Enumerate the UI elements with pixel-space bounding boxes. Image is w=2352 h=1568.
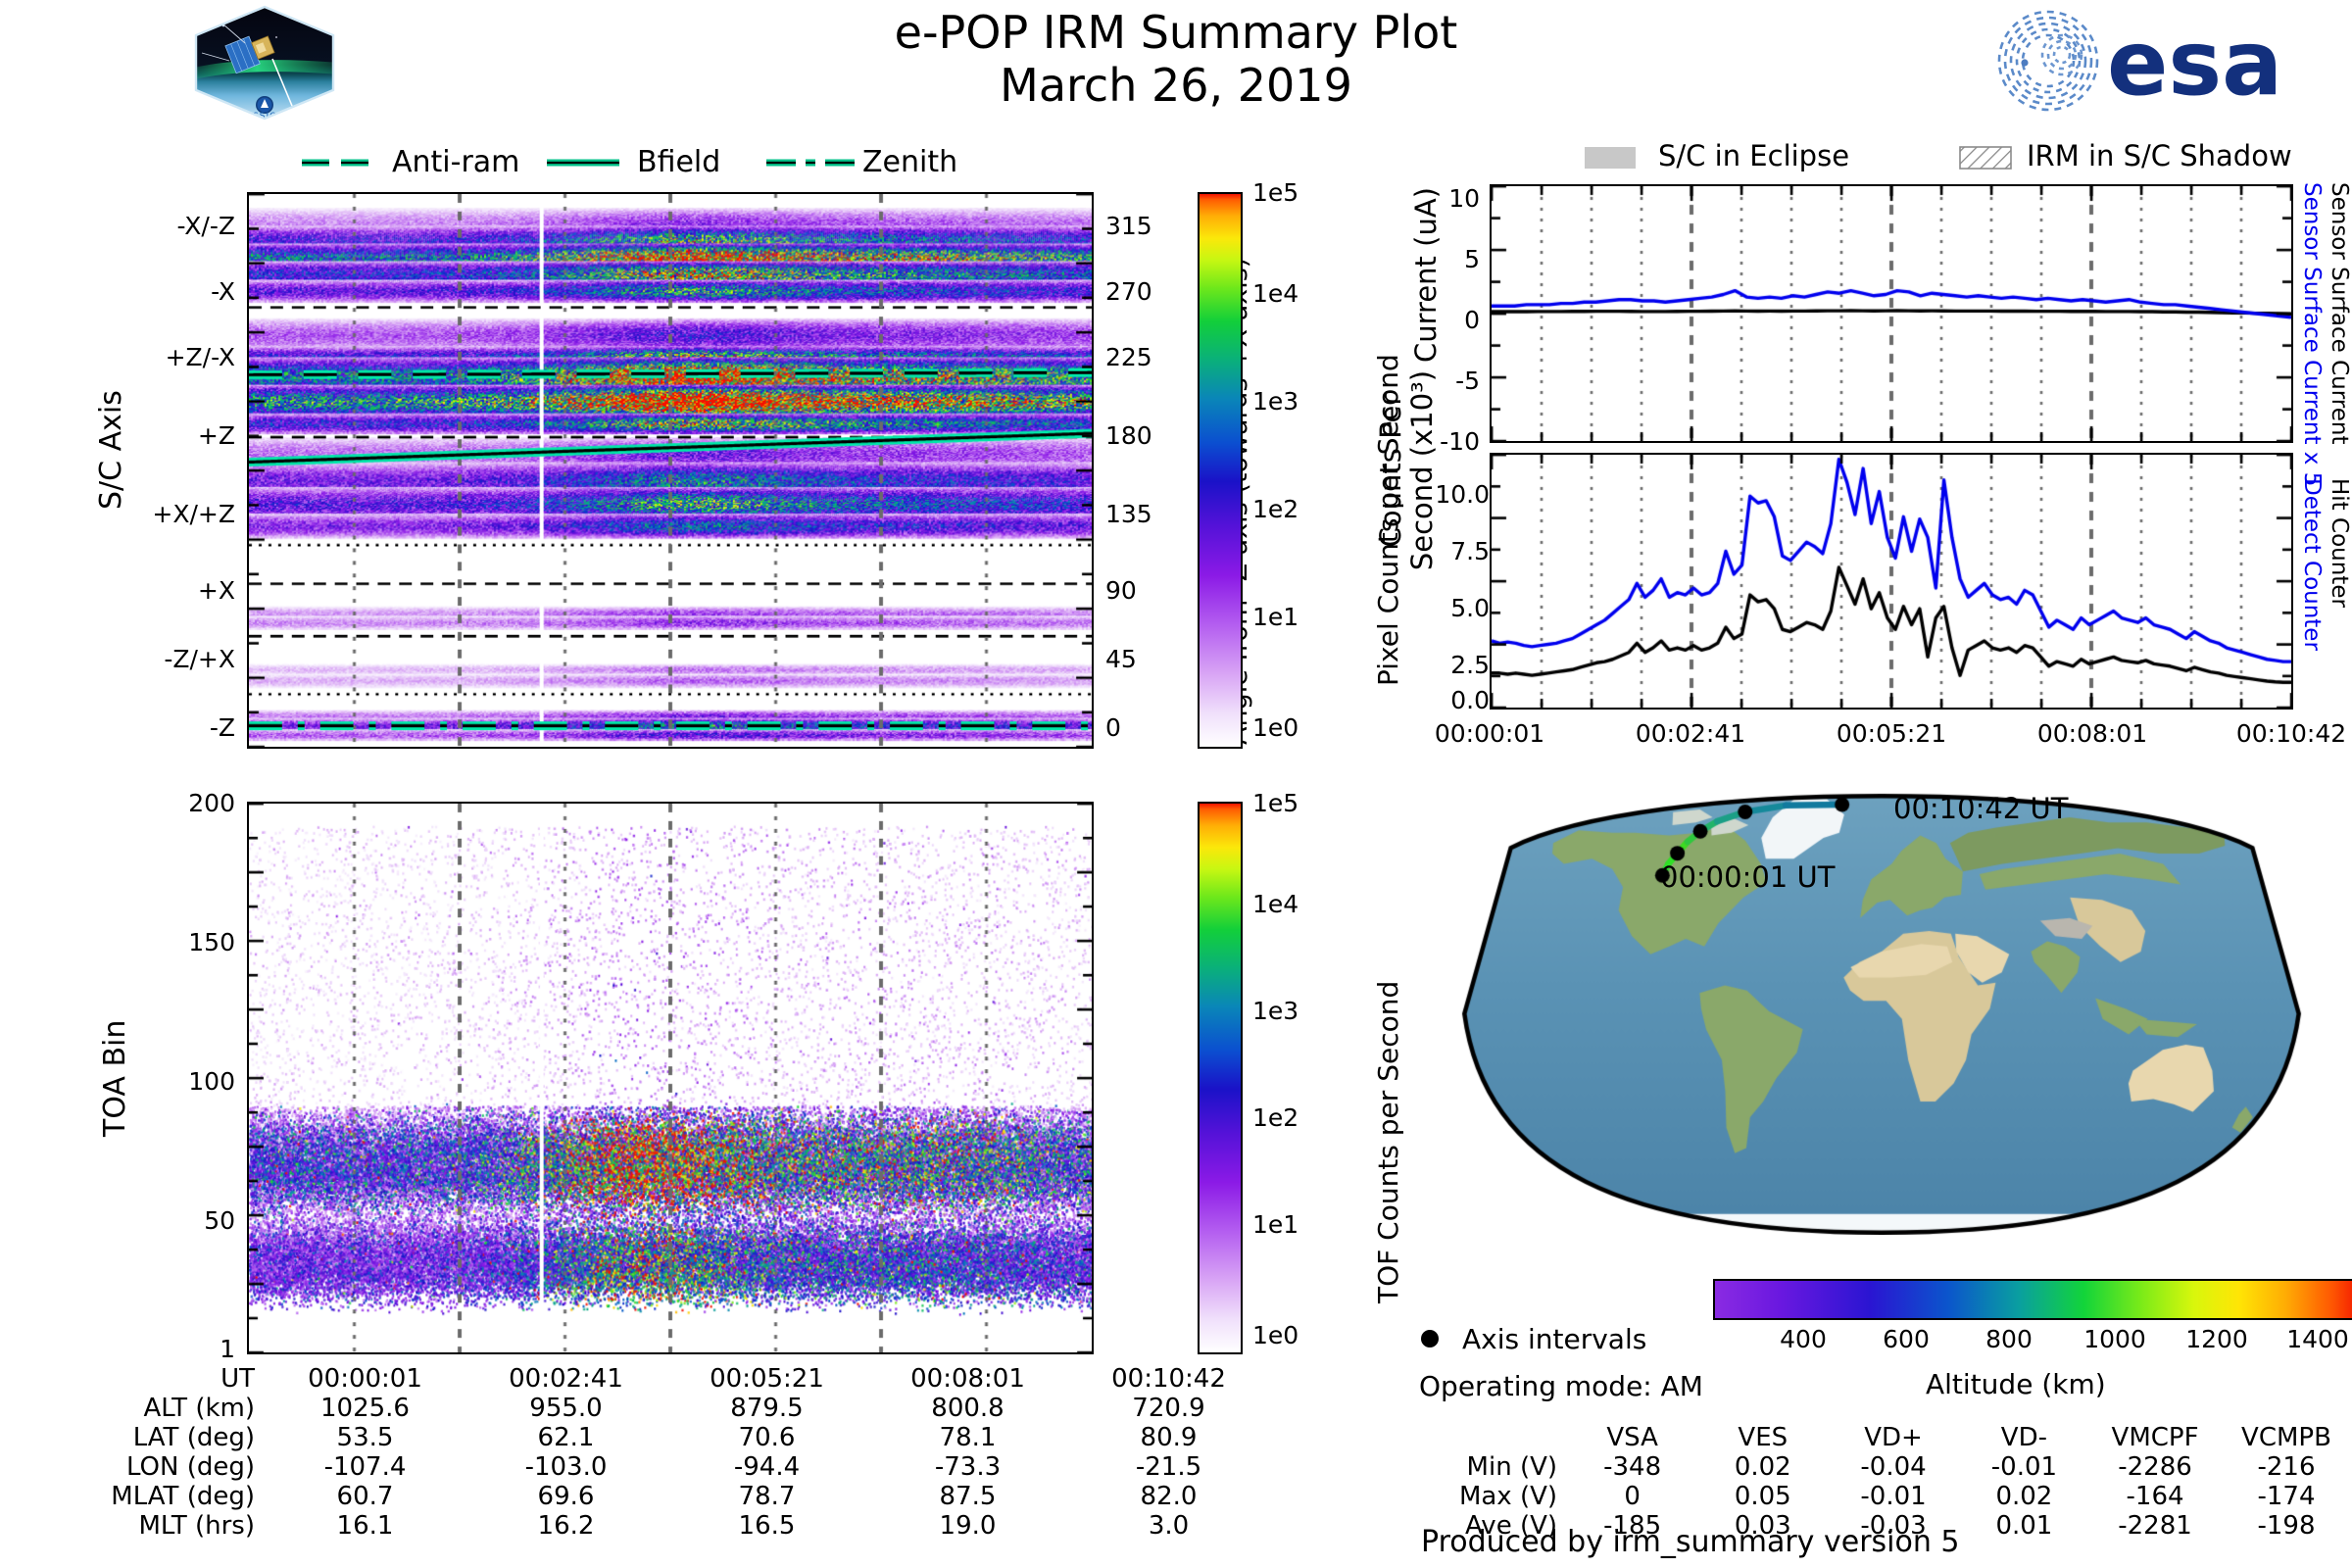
voltage-cell: 0.01 [1959,1511,2089,1541]
tof-cb-tick-1: 1e4 [1252,890,1370,918]
ephemeris-table: UT00:00:0100:02:4100:05:2100:08:0100:10:… [39,1364,1269,1541]
counts-right-label-blue: Detect Counter [2299,478,2325,651]
sc-axis-ylabel: S/C Axis [94,390,128,510]
plot-canvas [1492,186,2291,441]
ephemeris-cell: 879.5 [666,1394,867,1423]
ephemeris-cell: 53.5 [265,1423,465,1452]
ephemeris-cell: 78.1 [867,1423,1068,1452]
tof-cb-tick-2: 1e3 [1252,997,1370,1025]
voltage-column-header: VES [1697,1423,1828,1452]
tof-cb-tick-4: 1e1 [1252,1210,1370,1239]
plot-canvas [1492,455,2291,708]
plot-canvas [1460,774,2303,1235]
sc-angle-tick-5: 90 [1105,576,1194,605]
counts-ytick-4: 0.0 [1352,686,1490,714]
map-end-label: 00:10:42 UT [1893,792,2068,825]
toa-ytick-3: 50 [78,1206,235,1235]
counts-xtick-3: 00:08:01 [2014,719,2171,748]
alt-cb-tick-1: 600 [1857,1325,1955,1353]
ephemeris-cell: 80.9 [1068,1423,1269,1452]
ephemeris-cell: 955.0 [465,1394,666,1423]
counts-xtick-0: 00:00:01 [1411,719,1568,748]
sc-axis-ytick-3: +Z [59,421,235,450]
voltage-cell: -2286 [2089,1452,2221,1482]
voltage-cell: 0.05 [1697,1482,1828,1511]
ephemeris-row-label: LON (deg) [39,1452,265,1482]
sc-angle-tick-6: 45 [1105,645,1194,673]
table-row: LON (deg)-107.4-103.0-94.4-73.3-21.5 [39,1452,1269,1482]
ephemeris-cell: 82.0 [1068,1482,1269,1511]
sc-angle-tick-2: 225 [1105,343,1194,371]
voltage-row-label: Max (V) [1421,1482,1567,1511]
sc-angle-tick-1: 270 [1105,277,1194,306]
ephemeris-cell: 00:02:41 [465,1364,666,1394]
legend-label-anti-ram: Anti-ram [392,145,519,179]
ephemeris-cell: -94.4 [666,1452,867,1482]
page-date: March 26, 2019 [686,61,1666,112]
ephemeris-cell: 00:10:42 [1068,1364,1269,1394]
alt-cb-tick-3: 1000 [2061,1325,2169,1353]
toa-ytick-0: 200 [78,789,235,817]
tof-counts-colorbar [1198,802,1243,1354]
toa-ytick-2: 100 [78,1067,235,1096]
ephemeris-cell: 1025.6 [265,1394,465,1423]
current-right-label-blue: Sensor Surface Current x 5 [2299,182,2325,486]
pixel-cb-tick-1: 1e4 [1252,279,1370,308]
counts-chart [1490,453,2293,710]
voltage-cell: 0.02 [1697,1452,1828,1482]
altitude-colorbar-label: Altitude (km) [1926,1368,2106,1400]
axis-interval-marker-icon [1419,1328,1441,1349]
ephemeris-cell: 78.7 [666,1482,867,1511]
table-row: MLAT (deg)60.769.678.787.582.0 [39,1482,1269,1511]
ephemeris-cell: 720.9 [1068,1394,1269,1423]
ephemeris-cell: 00:08:01 [867,1364,1068,1394]
counts-ytick-3: 2.5 [1352,651,1490,679]
plot-canvas [249,804,1092,1352]
tof-cb-tick-3: 1e2 [1252,1103,1370,1132]
plot-canvas [249,194,1092,747]
sc-angle-tick-0: 315 [1105,212,1194,240]
counts-ytick-1: 7.5 [1352,537,1490,565]
cassiope-logo: CASSIOPE [186,4,343,122]
voltage-cell: -0.01 [1959,1452,2089,1482]
voltage-cell: -198 [2221,1511,2352,1541]
voltage-cell: 0 [1567,1482,1697,1511]
ephemeris-cell: 70.6 [666,1423,867,1452]
sensor-current-chart [1490,184,2293,443]
legend-label-eclipse: S/C in Eclipse [1658,139,1849,172]
ephemeris-cell: 19.0 [867,1511,1068,1541]
counts-ytick-0: 10.0 [1352,480,1490,509]
pixel-cb-tick-2: 1e3 [1252,387,1370,416]
esa-logo: esa [1991,8,2334,112]
toa-ytick-4: 1 [78,1335,235,1363]
voltage-cell: -164 [2089,1482,2221,1511]
counts-xtick-1: 00:02:41 [1612,719,1769,748]
ephemeris-cell: 800.8 [867,1394,1068,1423]
sc-axis-ytick-5: +X [59,576,235,605]
alt-cb-tick-0: 400 [1754,1325,1852,1353]
table-row: ALT (km)1025.6955.0879.5800.8720.9 [39,1394,1269,1423]
ephemeris-cell: 00:00:01 [265,1364,465,1394]
voltage-cell: -174 [2221,1482,2352,1511]
current-right-label-black: Sensor Surface Current [2327,182,2352,444]
current-ytick-0: 10 [1372,184,1480,213]
voltage-column-header: VD+ [1828,1423,1958,1452]
ephemeris-row-label: LAT (deg) [39,1423,265,1452]
ephemeris-cell: 62.1 [465,1423,666,1452]
table-row: Max (V)00.05-0.010.02-164-174 [1421,1482,2352,1511]
voltage-cell: -0.01 [1828,1482,1958,1511]
sc-axis-ytick-7: -Z [59,713,235,742]
alt-cb-tick-4: 1200 [2163,1325,2271,1353]
ephemeris-cell: -107.4 [265,1452,465,1482]
legend-label-zenith: Zenith [862,145,957,179]
ephemeris-row-label: UT [39,1364,265,1394]
sc-axis-ytick-0: -X/-Z [59,212,235,240]
voltage-table: VSAVESVD+VD-VMCPFVCMPBMin (V)-3480.02-0.… [1421,1423,2352,1541]
sc-axis-ytick-1: -X [59,277,235,306]
altitude-colorbar [1713,1279,2352,1320]
svg-text:esa: esa [2107,11,2282,112]
sc-axis-spectrogram [247,192,1094,749]
pixel-counts-colorbar [1198,192,1243,749]
voltage-corner-cell [1421,1423,1567,1452]
ephemeris-cell: 16.5 [666,1511,867,1541]
ephemeris-row-label: MLT (hrs) [39,1511,265,1541]
voltage-cell: -2281 [2089,1511,2221,1541]
voltage-cell: 0.02 [1959,1482,2089,1511]
voltage-cell: -0.04 [1828,1452,1958,1482]
alt-cb-tick-5: 1400 [2264,1325,2352,1353]
voltage-row-label: Min (V) [1421,1452,1567,1482]
voltage-column-header: VD- [1959,1423,2089,1452]
counts-xtick-4: 00:10:42 [2213,719,2352,748]
table-row: Min (V)-3480.02-0.04-0.01-2286-216 [1421,1452,2352,1482]
ephemeris-cell: 69.6 [465,1482,666,1511]
voltage-cell: -216 [2221,1452,2352,1482]
sc-angle-tick-3: 180 [1105,421,1194,450]
ephemeris-cell: 87.5 [867,1482,1068,1511]
table-row: MLT (hrs)16.116.216.519.03.0 [39,1511,1269,1541]
pixel-cb-tick-0: 1e5 [1252,178,1370,207]
counts-right-label-black: Hit Counter [2327,478,2352,608]
ephemeris-row-label: MLAT (deg) [39,1482,265,1511]
toa-ytick-1: 150 [78,928,235,956]
table-row: LAT (deg)53.562.170.678.180.9 [39,1423,1269,1452]
orbit-ground-track-map [1460,774,2303,1235]
table-row: UT00:00:0100:02:4100:05:2100:08:0100:10:… [39,1364,1269,1394]
alt-cb-tick-2: 800 [1960,1325,2058,1353]
sc-angle-tick-7: 0 [1105,713,1194,742]
ephemeris-cell: 16.2 [465,1511,666,1541]
ephemeris-cell: 16.1 [265,1511,465,1541]
voltage-column-header: VMCPF [2089,1423,2221,1452]
counts-ytick-2: 5.0 [1352,594,1490,622]
map-start-label: 00:00:01 UT [1660,860,1835,894]
tof-cb-tick-0: 1e5 [1252,789,1370,817]
ephemeris-cell: 60.7 [265,1482,465,1511]
sc-angle-tick-4: 135 [1105,500,1194,528]
counts-xtick-2: 00:05:21 [1813,719,1970,748]
current-ylabel: Current (uA) [1409,187,1443,363]
toa-bin-spectrogram [247,802,1094,1354]
ephemeris-cell: -21.5 [1068,1452,1269,1482]
tof-colorbar-label: TOF Counts per Second [1372,981,1404,1303]
ephemeris-cell: 3.0 [1068,1511,1269,1541]
tof-cb-tick-5: 1e0 [1252,1321,1370,1349]
produced-by-footer: Produced by irm_summary version 5 [1421,1525,1959,1559]
pixel-cb-tick-5: 1e0 [1252,713,1370,742]
sc-axis-ytick-4: +X/+Z [59,500,235,528]
page-title: e-POP IRM Summary Plot [686,8,1666,59]
map-marker-legend: Axis intervals [1462,1323,1646,1355]
sc-axis-ytick-2: +Z/-X [59,343,235,371]
ephemeris-cell: 00:05:21 [666,1364,867,1394]
voltage-cell: -348 [1567,1452,1697,1482]
legend-label-bfield: Bfield [637,145,720,179]
ephemeris-cell: -103.0 [465,1452,666,1482]
current-ytick-1: 5 [1372,245,1480,273]
legend-label-shadow: IRM in S/C Shadow [2027,139,2292,172]
table-header-row: VSAVESVD+VD-VMCPFVCMPB [1421,1423,2352,1452]
voltage-column-header: VCMPB [2221,1423,2352,1452]
operating-mode: Operating mode: AM [1419,1370,1703,1402]
voltage-column-header: VSA [1567,1423,1697,1452]
sc-axis-ytick-6: -Z/+X [59,645,235,673]
ephemeris-cell: -73.3 [867,1452,1068,1482]
svg-text:CASSIOPE: CASSIOPE [239,112,291,122]
current-ytick-2: 0 [1372,306,1480,334]
ephemeris-row-label: ALT (km) [39,1394,265,1423]
